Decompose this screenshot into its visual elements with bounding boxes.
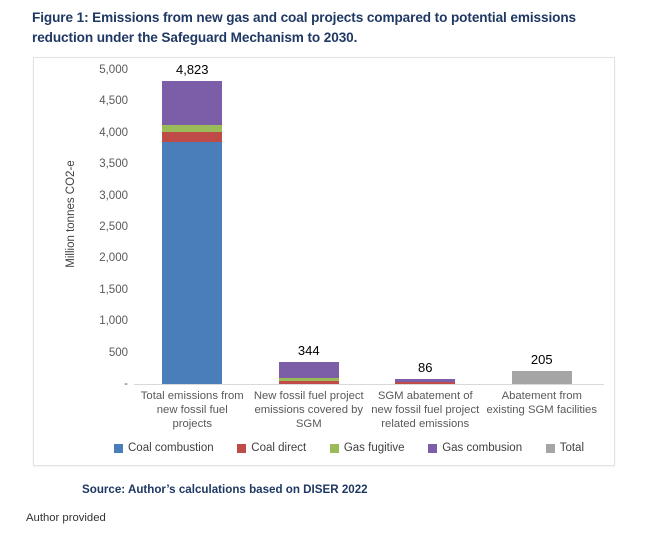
bar-value-label: 86 [418, 360, 432, 375]
chart-panel: Million tonnes CO2-e 5,0004,5004,0003,50… [33, 57, 615, 466]
stacked-bar[interactable] [512, 371, 572, 384]
legend-swatch-icon [114, 444, 123, 453]
bar-value-label: 4,823 [176, 62, 209, 77]
bar-segment-gas-fugitive[interactable] [162, 125, 222, 132]
legend-label: Coal direct [251, 442, 306, 454]
y-axis-tick-0: - [68, 379, 128, 389]
x-axis-label-0: Total emissions from new fossil fuel pro… [134, 389, 251, 439]
bar-segment-total[interactable] [512, 371, 572, 384]
page-title: Figure 1: Emissions from new gas and coa… [32, 8, 622, 47]
bar-column: 205 [484, 70, 601, 384]
y-axis-tick-4500: 4,500 [68, 96, 128, 106]
x-axis-label-3: Abatement from existing SGM facilities [484, 389, 601, 439]
x-axis-label-group: Total emissions from new fossil fuel pro… [134, 389, 600, 439]
bar-segment-gas-combusion[interactable] [162, 81, 222, 125]
y-axis-tick-5000: 5,000 [68, 65, 128, 75]
y-axis-tick-1000: 1,000 [68, 316, 128, 326]
x-axis-label-1: New fossil fuel project emissions covere… [251, 389, 368, 439]
bar-value-label: 205 [531, 352, 553, 367]
bar-column: 4,823 [134, 70, 251, 384]
x-axis-label-2: SGM abatement of new fossil fuel project… [367, 389, 484, 439]
y-axis-tick-2000: 2,000 [68, 253, 128, 263]
legend-label: Coal combustion [128, 442, 214, 454]
bar-segment-coal-combustion[interactable] [162, 142, 222, 384]
bar-segment-gas-combusion[interactable] [279, 362, 339, 378]
image-credit: Author provided [26, 512, 106, 524]
legend-swatch-icon [237, 444, 246, 453]
y-axis-tick-500: 500 [68, 348, 128, 358]
legend-label: Total [560, 442, 584, 454]
y-axis-tick-1500: 1,500 [68, 285, 128, 295]
legend-item-total[interactable]: Total [546, 442, 584, 454]
stacked-bar[interactable] [162, 81, 222, 384]
legend-label: Gas combusion [442, 442, 522, 454]
figure-container: Figure 1: Emissions from new gas and coa… [0, 0, 647, 533]
source-note: Source: Author’s calculations based on D… [82, 483, 368, 496]
chart-legend: Coal combustionCoal directGas fugitiveGa… [114, 442, 584, 454]
legend-swatch-icon [330, 444, 339, 453]
stacked-bar[interactable] [279, 362, 339, 384]
axis-baseline [134, 384, 604, 385]
y-axis-tick-3500: 3,500 [68, 159, 128, 169]
bar-column: 86 [367, 70, 484, 384]
bar-column: 344 [251, 70, 368, 384]
legend-item-gas-fugitive[interactable]: Gas fugitive [330, 442, 405, 454]
y-axis-tick-2500: 2,500 [68, 222, 128, 232]
legend-item-gas-combusion[interactable]: Gas combusion [428, 442, 522, 454]
legend-item-coal-combustion[interactable]: Coal combustion [114, 442, 214, 454]
y-axis-tick-3000: 3,000 [68, 191, 128, 201]
legend-label: Gas fugitive [344, 442, 405, 454]
legend-swatch-icon [546, 444, 555, 453]
bar-value-label: 344 [298, 343, 320, 358]
legend-item-coal-direct[interactable]: Coal direct [237, 442, 306, 454]
bar-segment-coal-direct[interactable] [162, 132, 222, 142]
y-axis-tick-4000: 4,000 [68, 128, 128, 138]
plot-area: 4,82334486205 [134, 70, 600, 384]
legend-swatch-icon [428, 444, 437, 453]
